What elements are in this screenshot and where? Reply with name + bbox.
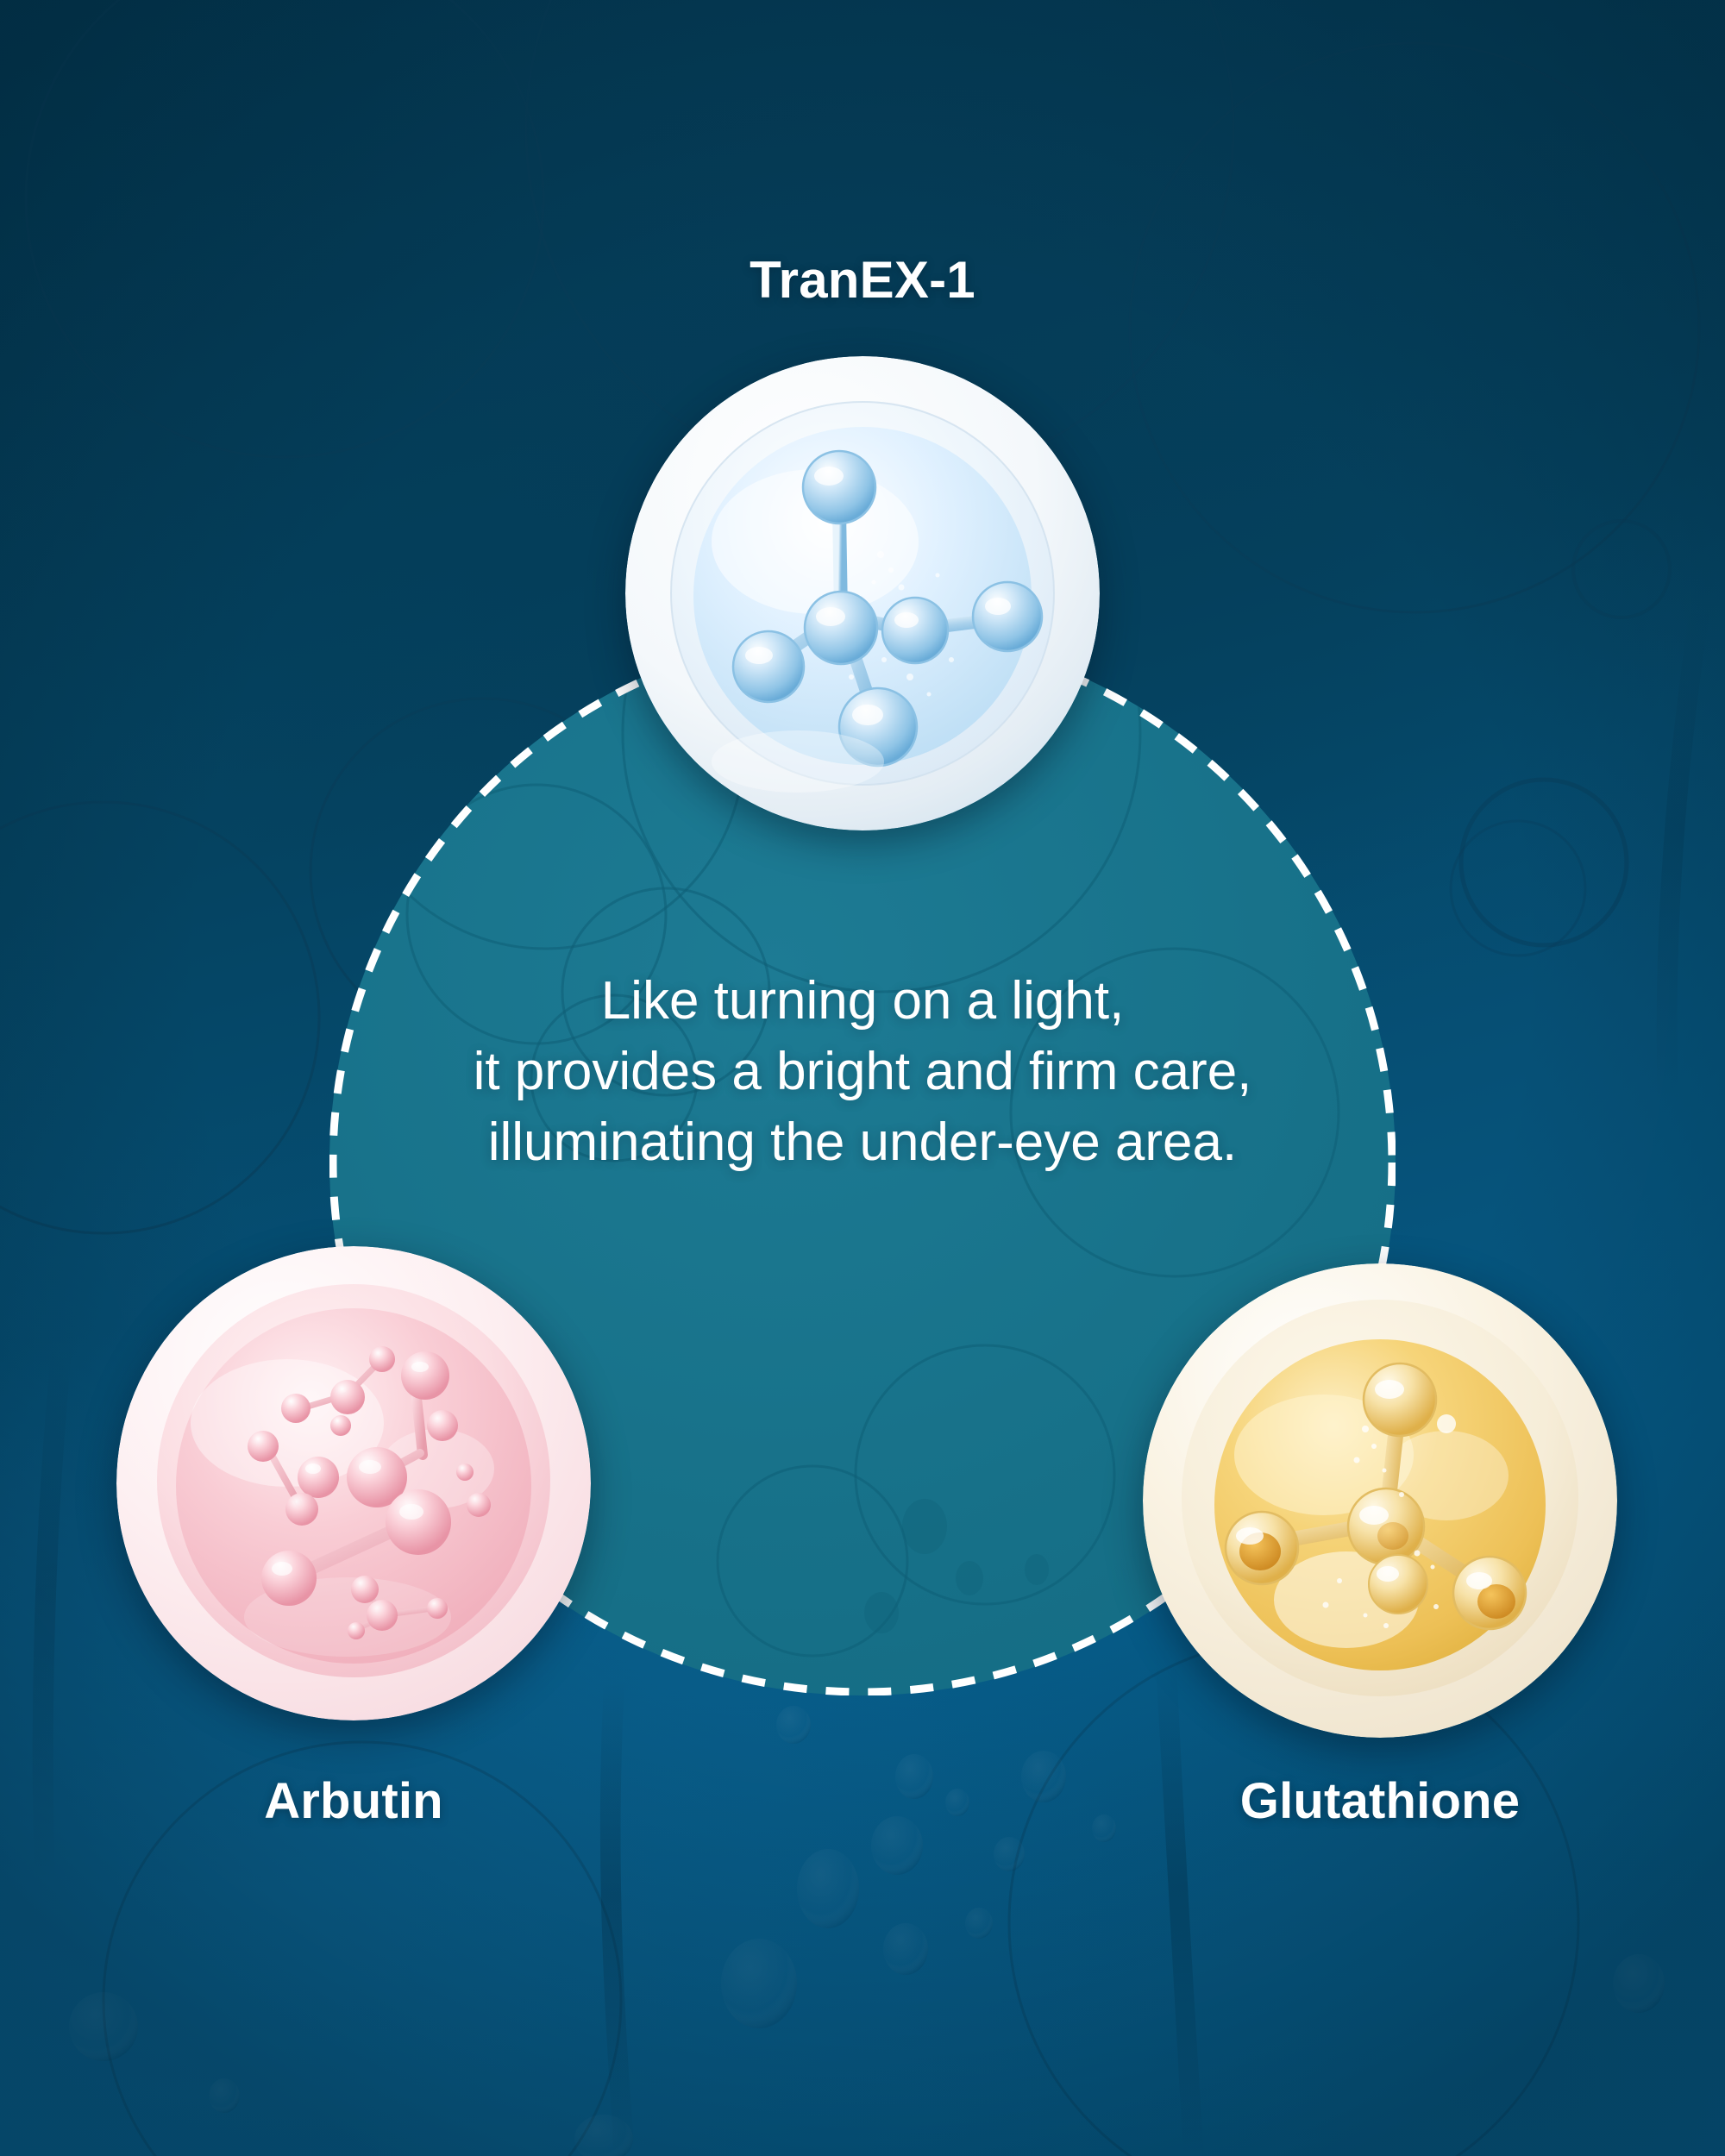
center-copy-line-2: it provides a bright and firm care, — [329, 1037, 1396, 1107]
center-description: Like turning on a light, it provides a b… — [329, 966, 1396, 1177]
gold-molecule-dish-icon — [1143, 1263, 1617, 1738]
ingredient-label-glutathione: Glutathione — [1143, 1772, 1617, 1830]
ingredient-label-arbutin: Arbutin — [116, 1772, 591, 1830]
ingredient-circle-tranex[interactable] — [625, 356, 1100, 830]
ingredient-infographic: Like turning on a light, it provides a b… — [0, 0, 1725, 2156]
ingredient-label-tranex: TranEX-1 — [0, 250, 1725, 310]
center-copy-line-3: illuminating the under-eye area. — [329, 1107, 1396, 1178]
center-copy-line-1: Like turning on a light, — [329, 966, 1396, 1037]
ingredient-circle-arbutin[interactable] — [116, 1246, 591, 1720]
ingredient-circle-glutathione[interactable] — [1143, 1263, 1617, 1738]
pink-molecule-dish-icon — [116, 1246, 591, 1720]
blue-molecule-dish-icon — [625, 356, 1100, 830]
